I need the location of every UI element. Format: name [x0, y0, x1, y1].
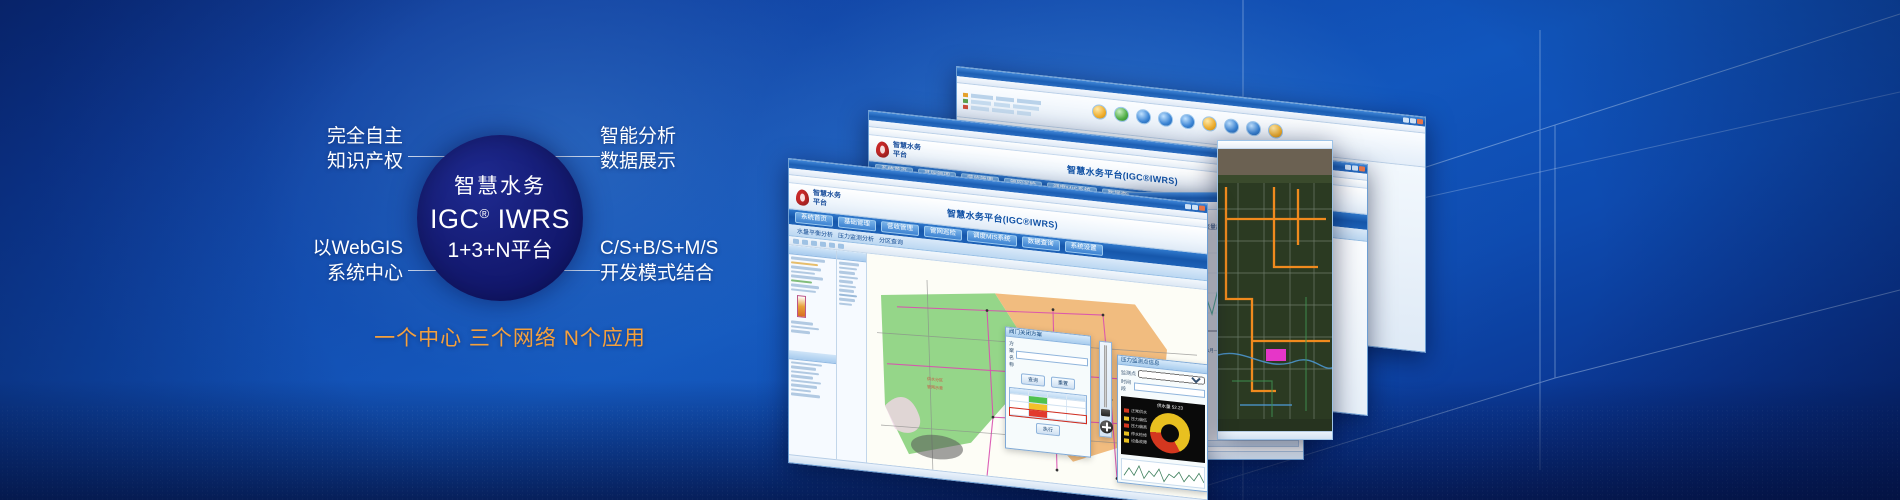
app-window-satellite-map[interactable] — [1217, 140, 1333, 440]
search-icon[interactable] — [1136, 108, 1151, 125]
analysis-icon[interactable] — [1180, 113, 1195, 130]
measure-icon[interactable] — [829, 242, 835, 248]
app-title: 智慧水务平台(IGC®IWRS) — [1067, 162, 1178, 187]
app-title: 智慧水务平台(IGC®IWRS) — [947, 206, 1058, 231]
valve-result-table[interactable] — [1009, 387, 1087, 424]
stats-icon[interactable] — [1158, 111, 1173, 128]
monitor-dialog[interactable]: 压力监测点信息 监测点 时间段 — [1117, 355, 1207, 493]
identify-icon[interactable] — [820, 241, 826, 247]
satellite-map-svg — [1218, 149, 1332, 419]
pressure-donut-chart — [1150, 411, 1190, 455]
feature-bottom-right: C/S+B/S+M/S 开发模式结合 — [600, 236, 770, 286]
app-window-front[interactable]: 智慧水务 平台 智慧水务平台(IGC®IWRS) 系统首页 基础管理 营收管理 … — [788, 158, 1208, 500]
feature-bottom-right-line2: 开发模式结合 — [600, 261, 770, 286]
minimize-icon[interactable] — [1403, 117, 1409, 123]
feature-top-left: 完全自主 知识产权 — [303, 124, 403, 174]
valve-field-label: 方案名称 — [1009, 340, 1014, 369]
minimize-icon[interactable] — [1185, 204, 1191, 210]
slider-track[interactable] — [1104, 345, 1107, 407]
feature-top-left-line2: 知识产权 — [303, 149, 403, 174]
zoom-in-icon[interactable] — [802, 239, 808, 245]
screenshot-stack: 智慧水务 平台 智慧水务平台(IGC®IWRS) 系统首页 基础管理 营收管理 … — [760, 0, 1500, 500]
satellite-map-canvas[interactable] — [1218, 149, 1332, 431]
feature-top-left-line1: 完全自主 — [327, 126, 403, 147]
pie-legend: 正常供水 压力偏低 压力偏高 停水检修 设备故障 — [1124, 407, 1147, 445]
layers-icon[interactable] — [1092, 104, 1107, 121]
logo-text: 智慧水务 平台 — [813, 190, 841, 209]
close-icon[interactable] — [1417, 119, 1423, 125]
maximize-icon[interactable] — [1410, 118, 1416, 124]
valve-name-input[interactable] — [1016, 351, 1088, 367]
logo-text: 智慧水务 平台 — [893, 142, 921, 161]
close-icon[interactable] — [1359, 166, 1365, 172]
tool-list[interactable] — [837, 259, 866, 462]
mini-sparkline — [1121, 458, 1205, 489]
selected-area-highlight — [1266, 349, 1286, 361]
logo-text-line2: 平台 — [813, 198, 827, 207]
feature-top-right: 智能分析 数据展示 — [600, 124, 760, 174]
layer-panel[interactable] — [789, 245, 837, 459]
gis-map-canvas[interactable]: 供水分区管网示意 阀门关闭方案 方案名称 — [867, 254, 1207, 500]
registered-mark-icon: ® — [479, 206, 489, 221]
maximize-icon[interactable] — [1352, 165, 1358, 171]
water-drop-logo-icon — [796, 188, 809, 205]
tool-panel[interactable] — [837, 250, 867, 462]
banner-root: 完全自主 知识产权 智能分析 数据展示 以WebGIS 系统中心 C/S+B/S… — [0, 0, 1900, 500]
status-badge-alarm — [1029, 410, 1048, 418]
tagline: 一个中心 三个网络 N个应用 — [300, 322, 720, 352]
valve-reset-button[interactable]: 重置 — [1051, 376, 1075, 390]
product-badge: 智慧水务 IGC® IWRS 1+3+N平台 — [417, 135, 583, 301]
sub-item-2[interactable]: 分区查询 — [879, 235, 903, 247]
pan-icon[interactable] — [793, 238, 799, 244]
feature-top-right-line2: 数据展示 — [600, 149, 760, 174]
valve-dialog[interactable]: 阀门关闭方案 方案名称 查询 重置 — [1005, 326, 1091, 457]
print-icon[interactable] — [838, 243, 844, 249]
slider-knob[interactable] — [1101, 409, 1110, 417]
collect-icon[interactable] — [1114, 106, 1129, 123]
legend-item: 设备故障 — [1124, 437, 1147, 445]
valve-dialog-body[interactable]: 方案名称 查询 重置 — [1006, 337, 1090, 445]
status-bar — [1218, 431, 1332, 439]
map-zoom-slider[interactable] — [1099, 341, 1112, 438]
feature-bottom-left: 以WebGIS 系统中心 — [297, 236, 403, 286]
monitor-field2-label: 时间段 — [1121, 378, 1132, 393]
pan-dpad-icon[interactable] — [1100, 420, 1113, 434]
pressure-pie-panel: 正常供水 压力偏低 压力偏高 停水检修 设备故障 供水量 52.23 — [1121, 396, 1205, 463]
badge-brand: IGC — [430, 204, 480, 234]
valve-execute-button[interactable]: 执行 — [1036, 423, 1060, 437]
badge-product: IWRS — [498, 204, 571, 234]
attribute-list[interactable] — [789, 359, 836, 460]
zoom-out-icon[interactable] — [811, 240, 817, 246]
close-icon[interactable] — [1199, 205, 1205, 211]
valve-query-button[interactable]: 查询 — [1021, 373, 1045, 387]
badge-title: 智慧水务 — [454, 176, 546, 197]
badge-platform: 1+3+N平台 — [447, 240, 552, 261]
feature-top-right-line1: 智能分析 — [600, 126, 676, 147]
monitor-field1-label: 监测点 — [1121, 368, 1136, 377]
feature-bottom-left-line2: 系统中心 — [297, 261, 403, 286]
settings-icon[interactable] — [1268, 123, 1283, 140]
logo-text-line2: 平台 — [893, 150, 907, 159]
feature-bottom-left-line1: 以WebGIS — [313, 238, 403, 259]
monitor-dialog-body[interactable]: 监测点 时间段 正常供水 压力偏低 压 — [1118, 365, 1207, 493]
report-icon[interactable] — [1224, 118, 1239, 135]
address-bar[interactable] — [1218, 141, 1332, 149]
gauge-value: 供水量 52.23 — [1157, 403, 1183, 412]
dispatch-icon[interactable] — [1246, 120, 1261, 137]
water-drop-logo-icon — [876, 140, 889, 157]
badge-brand-line: IGC® IWRS — [430, 206, 570, 233]
layer-tree[interactable] — [789, 254, 836, 355]
patrol-icon[interactable] — [1202, 116, 1217, 133]
feature-bottom-right-line1: C/S+B/S+M/S — [600, 238, 718, 259]
monitor-time-input[interactable] — [1134, 382, 1205, 398]
minimize-icon[interactable] — [1345, 165, 1351, 171]
maximize-icon[interactable] — [1192, 205, 1198, 211]
